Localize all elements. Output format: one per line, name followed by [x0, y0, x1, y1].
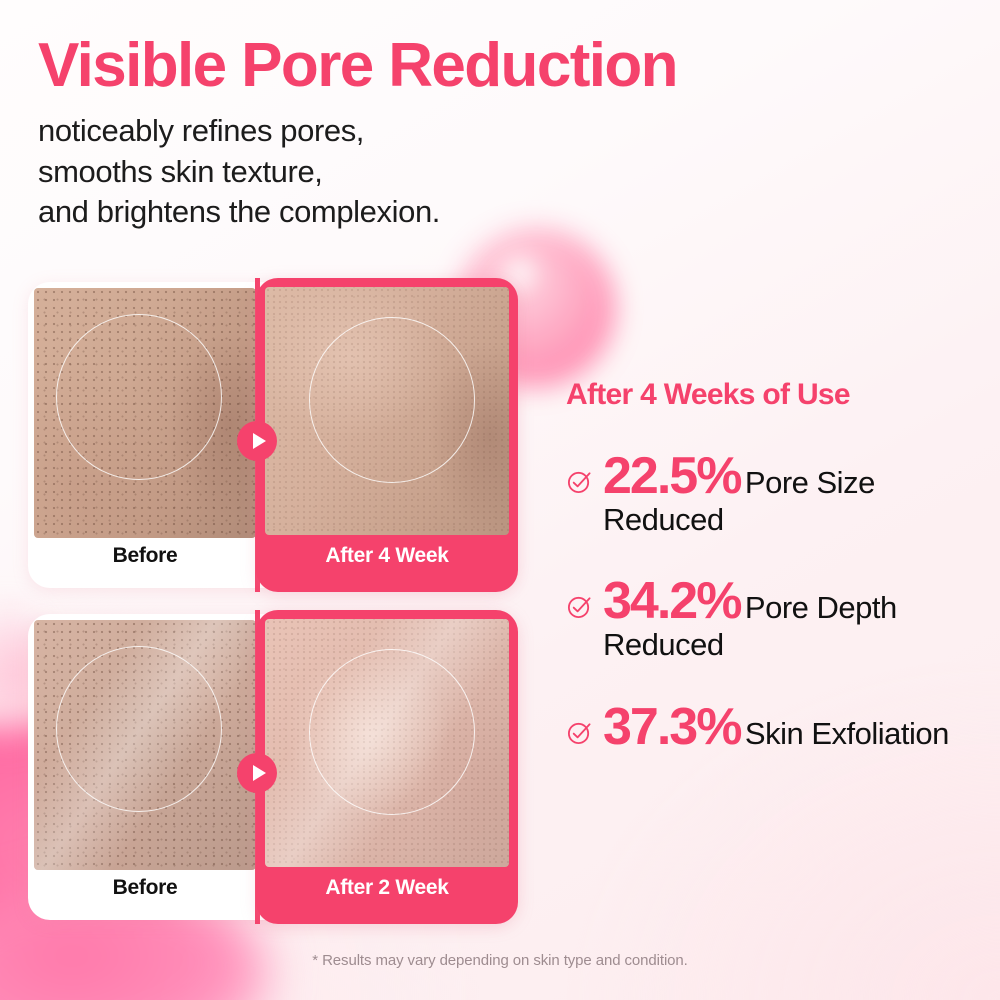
stat-value: 34.2%	[603, 572, 740, 630]
subtitle-line-3: and brightens the complexion.	[38, 192, 778, 232]
play-triangle	[253, 433, 266, 449]
before-label-2: Before	[34, 876, 256, 900]
play-icon[interactable]	[237, 421, 277, 461]
before-after-card-1[interactable]: Before After 4 Week	[28, 282, 514, 588]
stat-item-skin-exfoliation: 37.3% Skin Exfoliation	[566, 701, 976, 753]
card-pink-panel-2: After 2 Week	[256, 610, 518, 924]
play-triangle	[253, 765, 266, 781]
subtitle-line-2: smooths skin texture,	[38, 152, 778, 192]
before-after-card-2[interactable]: Before After 2 Week	[28, 614, 514, 920]
stat-value: 22.5%	[603, 447, 740, 505]
card-pink-panel-1: After 4 Week	[256, 278, 518, 592]
subtitle-line-1: noticeably refines pores,	[38, 111, 778, 151]
zoom-circle-outline	[309, 649, 475, 815]
check-circle-icon	[566, 719, 593, 746]
stat-value: 37.3%	[603, 698, 740, 756]
zoom-circle-outline	[309, 317, 475, 483]
check-circle-icon	[566, 468, 593, 495]
before-image-1	[34, 288, 256, 538]
after-label-2: After 2 Week	[265, 876, 509, 900]
page-title: Visible Pore Reduction	[38, 34, 778, 97]
after-image-2	[265, 619, 509, 867]
zoom-circle-outline	[56, 314, 222, 480]
stats-panel: After 4 Weeks of Use 22.5% Pore Size Red…	[566, 378, 976, 753]
stat-label: Skin Exfoliation	[745, 716, 949, 751]
stats-heading: After 4 Weeks of Use	[566, 378, 976, 412]
after-image-1	[265, 287, 509, 535]
play-icon[interactable]	[237, 753, 277, 793]
before-image-2	[34, 620, 256, 870]
header: Visible Pore Reduction noticeably refine…	[38, 34, 778, 232]
footnote-disclaimer: * Results may vary depending on skin typ…	[0, 952, 1000, 969]
check-circle-icon	[566, 593, 593, 620]
before-label-1: Before	[34, 544, 256, 568]
subtitle: noticeably refines pores, smooths skin t…	[38, 111, 778, 232]
stat-item-pore-size: 22.5% Pore Size Reduced	[566, 450, 976, 537]
zoom-circle-outline	[56, 646, 222, 812]
stat-item-pore-depth: 34.2% Pore Depth Reduced	[566, 575, 976, 662]
after-label-1: After 4 Week	[265, 544, 509, 568]
